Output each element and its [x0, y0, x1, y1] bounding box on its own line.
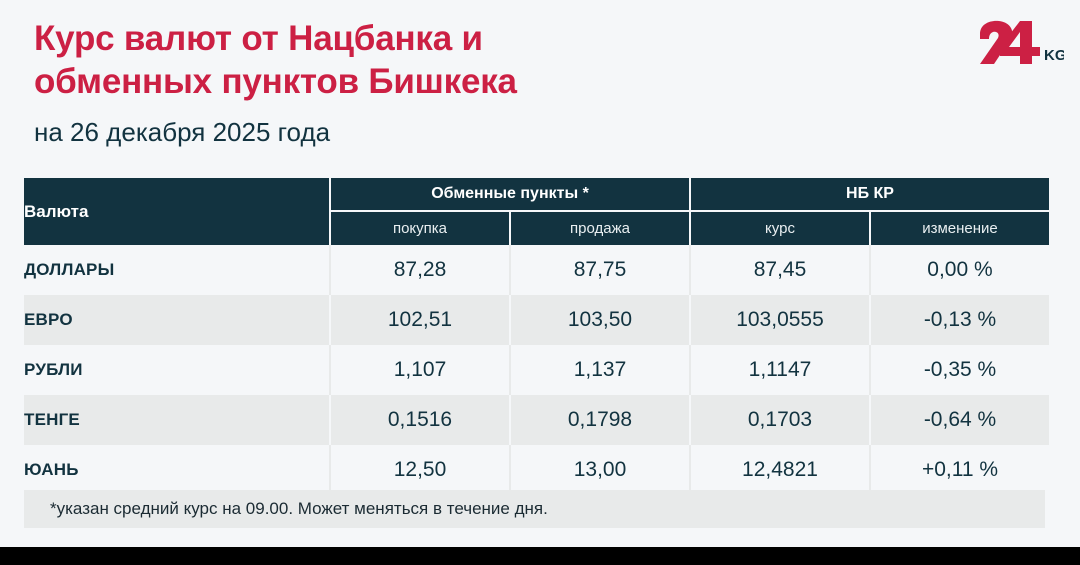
page-title-line-1: Курс валют от Нацбанка и	[34, 18, 734, 61]
table-head: Валюта Обменные пункты * НБ КР покупка п…	[24, 178, 1049, 245]
cell-buy: 102,51	[330, 295, 510, 345]
cell-currency-name: ЮАНЬ	[24, 445, 330, 495]
page-header: Курс валют от Нацбанка и обменных пункто…	[0, 0, 1080, 170]
page-subtitle-date: на 26 декабря 2025 года	[34, 117, 330, 148]
cell-currency-name: ТЕНГЕ	[24, 395, 330, 445]
cell-currency-name: РУБЛИ	[24, 345, 330, 395]
cell-change: -0,64 %	[870, 395, 1049, 445]
cell-sell: 0,1798	[510, 395, 690, 445]
cell-currency-name: ЕВРО	[24, 295, 330, 345]
cell-sell: 1,137	[510, 345, 690, 395]
cell-change: -0,13 %	[870, 295, 1049, 345]
page-title-line-2: обменных пунктов Бишкека	[34, 61, 734, 104]
column-header-change: изменение	[870, 211, 1049, 245]
cell-rate: 1,1147	[690, 345, 870, 395]
cell-buy: 0,1516	[330, 395, 510, 445]
cell-sell: 87,75	[510, 245, 690, 295]
currency-rates-table: Валюта Обменные пункты * НБ КР покупка п…	[24, 178, 1049, 495]
cell-rate: 0,1703	[690, 395, 870, 445]
svg-text:KG: KG	[1044, 47, 1064, 64]
column-header-buy: покупка	[330, 211, 510, 245]
table-row: ЕВРО 102,51 103,50 103,0555 -0,13 %	[24, 295, 1049, 345]
table-row: ДОЛЛАРЫ 87,28 87,75 87,45 0,00 %	[24, 245, 1049, 295]
cell-change: +0,11 %	[870, 445, 1049, 495]
cell-buy: 87,28	[330, 245, 510, 295]
footnote-bar: *указан средний курс на 09.00. Может мен…	[24, 490, 1045, 528]
column-group-header-exchange-points: Обменные пункты *	[330, 178, 690, 211]
column-header-rate: курс	[690, 211, 870, 245]
24-kg-logo[interactable]: KG	[974, 18, 1064, 74]
page-title: Курс валют от Нацбанка и обменных пункто…	[34, 18, 734, 103]
table-row: РУБЛИ 1,107 1,137 1,1147 -0,35 %	[24, 345, 1049, 395]
table-body: ДОЛЛАРЫ 87,28 87,75 87,45 0,00 % ЕВРО 10…	[24, 245, 1049, 495]
cell-sell: 13,00	[510, 445, 690, 495]
column-header-currency: Валюта	[24, 178, 330, 245]
table-row: ЮАНЬ 12,50 13,00 12,4821 +0,11 %	[24, 445, 1049, 495]
cell-change: 0,00 %	[870, 245, 1049, 295]
cell-buy: 1,107	[330, 345, 510, 395]
table-row: ТЕНГЕ 0,1516 0,1798 0,1703 -0,64 %	[24, 395, 1049, 445]
column-header-sell: продажа	[510, 211, 690, 245]
cell-rate: 87,45	[690, 245, 870, 295]
logo-icon: KG	[974, 18, 1064, 74]
table-group-header-row: Валюта Обменные пункты * НБ КР	[24, 178, 1049, 211]
cell-rate: 103,0555	[690, 295, 870, 345]
cell-sell: 103,50	[510, 295, 690, 345]
cell-change: -0,35 %	[870, 345, 1049, 395]
cell-currency-name: ДОЛЛАРЫ	[24, 245, 330, 295]
bottom-black-bar	[0, 547, 1080, 565]
cell-rate: 12,4821	[690, 445, 870, 495]
column-group-header-nbkr: НБ КР	[690, 178, 1049, 211]
footnote-text: *указан средний курс на 09.00. Может мен…	[24, 499, 548, 519]
cell-buy: 12,50	[330, 445, 510, 495]
